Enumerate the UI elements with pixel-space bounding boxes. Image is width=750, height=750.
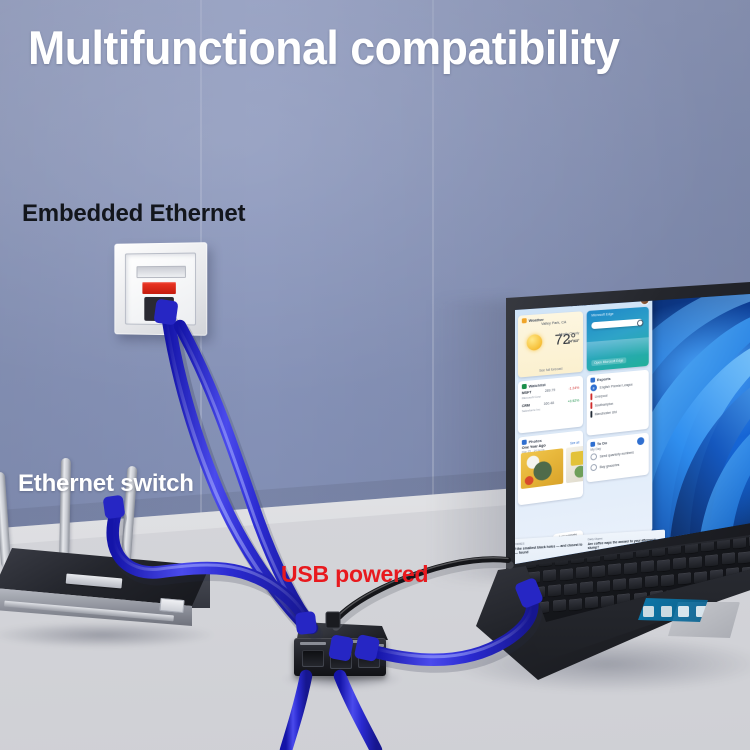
router-led-panel [159,598,184,613]
search-icon [637,319,643,326]
photo-icon [522,440,527,446]
keyboard-key[interactable] [689,556,702,568]
photos-see-all[interactable]: See all [570,441,579,446]
keyboard-key[interactable] [564,583,577,595]
page-title: Multifunctional compatibility [28,24,619,71]
keyboard-key[interactable] [548,585,561,597]
todo-text: Buy groceries [600,462,620,468]
wall-ethernet-outlet [114,242,207,336]
keyboard-key[interactable] [543,570,556,582]
photo-thumbnail[interactable] [521,448,563,489]
sticker-icon [643,606,654,617]
keyboard-key[interactable] [705,554,718,566]
team-color-bar [590,411,591,418]
keyboard-key[interactable] [592,565,605,577]
keyboard-key[interactable] [641,561,654,573]
widget-photos[interactable]: Photos One Year Ago Mar 25 · 14 items Se… [518,430,583,505]
widget-edge[interactable]: Microsoft Edge Open Microsoft Edge [587,307,649,372]
laptop: 11:11 AM Weather Valley Park, CA 72° Mos… [470,280,750,720]
weather-location: Valley Park, CA [541,320,566,326]
keyboard-key[interactable] [608,564,621,576]
photo-thumbnail[interactable] [566,444,583,483]
edge-search-input[interactable] [591,319,642,330]
sun-icon [527,334,542,351]
check-icon [590,442,595,447]
hub-rj45-port [302,650,324,667]
checkbox-icon[interactable] [590,464,596,472]
chart-icon [522,384,527,389]
esports-team: Manchester Utd [595,410,617,416]
hub-port-label [334,640,360,643]
keyboard-key[interactable] [553,600,566,612]
weather-footer: See full forecast [518,365,583,375]
hub-front-face [294,638,386,676]
keyboard-key[interactable] [661,574,674,586]
keyboard-key[interactable] [580,582,593,594]
outlet-rj45-port [144,297,174,321]
product-image-scene: 11:11 AM Weather Valley Park, CA 72° Mos… [0,0,750,750]
outlet-faceplate [125,253,196,326]
callout-usb-powered: USB powered [281,561,428,588]
widget-edge-title: Microsoft Edge [591,312,613,317]
weather-condition: Mostly Cloudy [559,331,579,336]
callout-ethernet-switch: Ethernet switch [18,470,194,498]
ethernet-splitter-hub [292,622,388,680]
widget-todo[interactable]: To Do My Day Send quarterly numbers Buy … [587,433,649,483]
sticker-icon [678,606,689,617]
league-logo-icon: E [590,384,596,391]
hub-rj45-port [358,651,380,668]
callout-embedded-ethernet: Embedded Ethernet [22,200,245,228]
weather-icon [522,318,527,323]
hub-port-label [358,644,384,647]
keyboard-key[interactable] [613,579,626,591]
outlet-red-marker [142,282,176,294]
keyboard-key[interactable] [597,580,610,592]
ethernet-switch-device [0,548,210,640]
keyboard-key[interactable] [629,577,642,589]
esports-team: Liverpool [595,393,608,398]
team-color-bar [590,402,591,409]
keyboard-key[interactable] [678,572,691,584]
keyboard-key[interactable] [569,598,582,610]
widget-weather[interactable]: Weather Valley Park, CA 72° Mostly Cloud… [518,311,583,377]
trophy-icon [590,377,595,382]
outlet-label-slot [137,266,186,278]
hub-rj45-port [330,652,352,669]
keyboard-key[interactable] [560,568,573,580]
keyboard-key[interactable] [673,557,686,569]
widget-esports[interactable]: Esports E English Premier League Liverpo… [587,370,649,436]
sticker-icon [661,606,672,617]
keyboard-key[interactable] [576,567,589,579]
keyboard-key[interactable] [624,562,637,574]
team-color-bar [590,393,591,400]
weather-high-low: 84°/63° [568,339,579,344]
edge-wave-art [587,337,649,360]
widget-watchlist[interactable]: Watchlist MSFT 289.79 -1.24% Microsoft C… [518,376,583,434]
keyboard-key[interactable] [585,597,598,609]
keyboard-key[interactable] [722,553,735,565]
windows-widgets-panel[interactable]: 11:11 AM Weather Valley Park, CA 72° Mos… [514,293,652,552]
keyboard-key[interactable] [645,576,658,588]
keyboard-key[interactable] [738,551,750,563]
keyboard-key[interactable] [657,559,670,571]
esports-team: Southampton [595,401,614,407]
checkbox-icon[interactable] [590,453,596,461]
hub-port-label [300,642,326,645]
